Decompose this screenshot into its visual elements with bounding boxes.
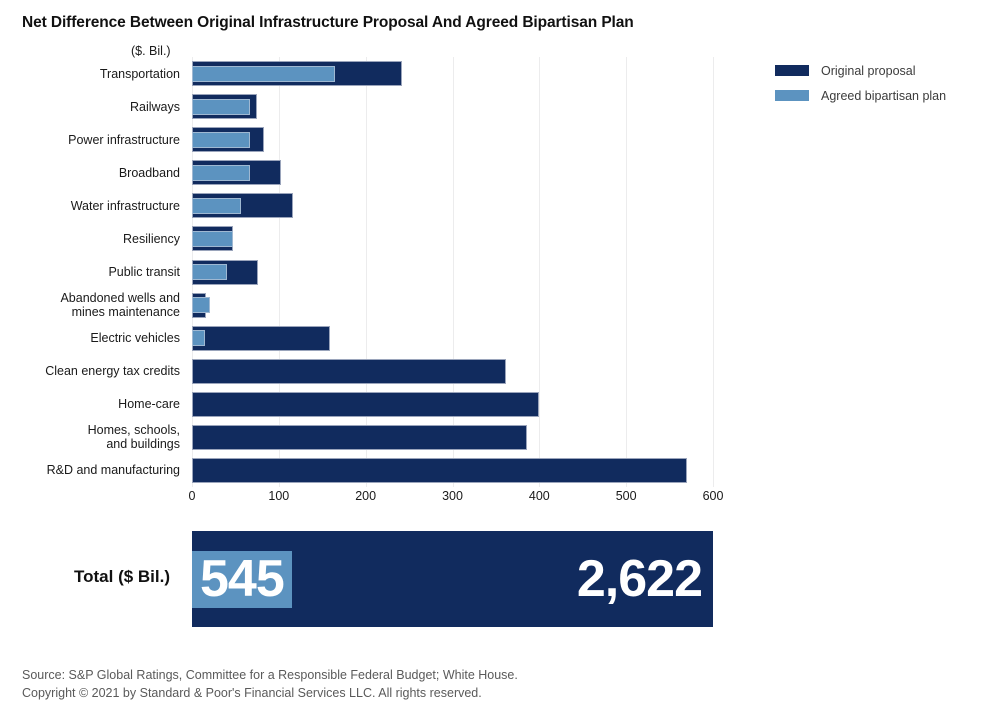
bar-original-proposal[interactable]	[192, 392, 539, 417]
bar-group[interactable]	[192, 392, 713, 417]
category-label: R&D and manufacturing	[0, 463, 180, 477]
category-label-line: Electric vehicles	[0, 331, 180, 345]
chart-plot-area	[192, 57, 713, 487]
bar-group[interactable]	[192, 326, 713, 351]
category-label: Transportation	[0, 67, 180, 81]
gridline	[713, 57, 714, 487]
legend-item-agreed-bipartisan-plan[interactable]: Agreed bipartisan plan	[775, 86, 946, 105]
category-label: Abandoned wells andmines maintenance	[0, 291, 180, 319]
bar-group[interactable]	[192, 293, 713, 318]
x-tick-label: 200	[355, 489, 376, 503]
bar-original-proposal[interactable]	[192, 326, 330, 351]
page-title: Net Difference Between Original Infrastr…	[22, 14, 634, 32]
category-label-line: Water infrastructure	[0, 199, 180, 213]
bar-agreed-bipartisan-plan[interactable]	[192, 66, 335, 82]
category-label: Clean energy tax credits	[0, 364, 180, 378]
category-label-line: R&D and manufacturing	[0, 463, 180, 477]
category-label-line: Homes, schools,	[0, 423, 180, 437]
category-label: Power infrastructure	[0, 133, 180, 147]
bar-original-proposal[interactable]	[192, 458, 687, 483]
bar-group[interactable]	[192, 127, 713, 152]
total-original-proposal-value: 2,622	[577, 551, 702, 608]
category-label: Railways	[0, 100, 180, 114]
category-label-line: Power infrastructure	[0, 133, 180, 147]
bar-group[interactable]	[192, 94, 713, 119]
category-label: Home-care	[0, 397, 180, 411]
legend-label-original-proposal: Original proposal	[821, 64, 916, 78]
total-section: Total ($ Bil.) 545 2,622	[0, 531, 986, 627]
category-label-line: Abandoned wells and	[0, 291, 180, 305]
bar-agreed-bipartisan-plan[interactable]	[192, 330, 205, 346]
category-label-line: mines maintenance	[0, 305, 180, 319]
x-tick-label: 300	[442, 489, 463, 503]
total-bar: 545 2,622	[192, 531, 713, 627]
bar-group[interactable]	[192, 260, 713, 285]
bar-original-proposal[interactable]	[192, 425, 527, 450]
x-tick-label: 100	[268, 489, 289, 503]
bar-agreed-bipartisan-plan[interactable]	[192, 99, 250, 115]
bar-agreed-bipartisan-plan[interactable]	[192, 264, 227, 280]
category-axis-labels: TransportationRailwaysPower infrastructu…	[0, 57, 186, 487]
bar-agreed-bipartisan-plan[interactable]	[192, 297, 210, 313]
x-tick-label: 0	[189, 489, 196, 503]
total-agreed-bipartisan-plan-value: 545	[192, 551, 292, 608]
axis-units-label: ($. Bil.)	[131, 44, 171, 58]
bar-group[interactable]	[192, 61, 713, 86]
bar-group[interactable]	[192, 458, 713, 483]
footer-note: Source: S&P Global Ratings, Committee fo…	[22, 666, 518, 702]
category-label: Homes, schools,and buildings	[0, 423, 180, 451]
legend-swatch-agreed-bipartisan-plan	[775, 90, 809, 101]
category-label: Water infrastructure	[0, 199, 180, 213]
category-label: Public transit	[0, 265, 180, 279]
bar-agreed-bipartisan-plan[interactable]	[192, 231, 233, 247]
x-tick-label: 400	[529, 489, 550, 503]
x-axis-tick-labels: 0100200300400500600	[192, 489, 713, 509]
total-label: Total ($ Bil.)	[74, 567, 170, 587]
bar-group[interactable]	[192, 193, 713, 218]
legend-item-original-proposal[interactable]: Original proposal	[775, 61, 946, 80]
legend-label-agreed-bipartisan-plan: Agreed bipartisan plan	[821, 89, 946, 103]
category-label-line: Broadband	[0, 166, 180, 180]
category-label-line: Public transit	[0, 265, 180, 279]
category-label: Resiliency	[0, 232, 180, 246]
footer-source: Source: S&P Global Ratings, Committee fo…	[22, 666, 518, 684]
bar-agreed-bipartisan-plan[interactable]	[192, 198, 241, 214]
chart-legend: Original proposal Agreed bipartisan plan	[775, 61, 946, 111]
category-label: Broadband	[0, 166, 180, 180]
footer-copyright: Copyright © 2021 by Standard & Poor's Fi…	[22, 684, 518, 702]
bar-agreed-bipartisan-plan[interactable]	[192, 165, 250, 181]
category-label-line: Resiliency	[0, 232, 180, 246]
category-label: Electric vehicles	[0, 331, 180, 345]
bar-group[interactable]	[192, 425, 713, 450]
bar-group[interactable]	[192, 160, 713, 185]
bar-group[interactable]	[192, 359, 713, 384]
category-label-line: and buildings	[0, 437, 180, 451]
bar-original-proposal[interactable]	[192, 359, 506, 384]
category-label-line: Clean energy tax credits	[0, 364, 180, 378]
x-tick-label: 600	[703, 489, 724, 503]
x-tick-label: 500	[616, 489, 637, 503]
bar-group[interactable]	[192, 226, 713, 251]
category-label-line: Railways	[0, 100, 180, 114]
bar-agreed-bipartisan-plan[interactable]	[192, 132, 250, 148]
legend-swatch-original-proposal	[775, 65, 809, 76]
category-label-line: Home-care	[0, 397, 180, 411]
category-label-line: Transportation	[0, 67, 180, 81]
